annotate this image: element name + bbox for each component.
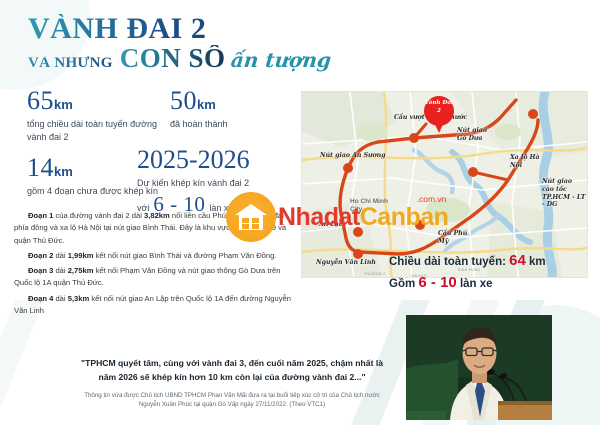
title-script: ấn tượng bbox=[229, 50, 331, 70]
summary-lanes-unit: làn xe bbox=[460, 278, 493, 290]
summary-lanes-label: Gồm bbox=[389, 278, 415, 290]
quote-block: "TPHCM quyết tâm, cùng với vành đai 3, đ… bbox=[74, 357, 390, 410]
paragraph-doan-3: Đoạn 3 dài 2,75km kết nối Phạm Văn Đồng … bbox=[14, 265, 299, 290]
segment-label: Đoạn 1 bbox=[28, 211, 53, 220]
summary-length-label: Chiều dài toàn tuyến: bbox=[389, 256, 506, 268]
summary-lanes-value: 6 - 10 bbox=[418, 274, 456, 291]
segment-length: 3,82km bbox=[144, 211, 170, 220]
timeline-range: 2025-2026 bbox=[137, 147, 250, 173]
stat-block-50km: 50km đã hoàn thành bbox=[170, 88, 228, 131]
quote-source: Thông tin vừa được Chủ tịch UBND TPHCM P… bbox=[74, 391, 390, 410]
segment-label: Đoạn 4 bbox=[28, 294, 53, 303]
watermark-brand-part-2: Canban bbox=[360, 203, 449, 231]
map-label-nut-giao-go-dua: Nút giao Gò Dưa bbox=[457, 127, 497, 143]
title-line-1: VÀNH ĐAI 2 bbox=[28, 14, 331, 44]
page-title: VÀNH ĐAI 2 VÀ NHỮNG CON SỐ ấn tượng bbox=[28, 14, 331, 72]
segment-length: 1,99km bbox=[68, 251, 94, 260]
summary-length-value: 64 bbox=[509, 252, 526, 269]
speaker-photo bbox=[406, 315, 552, 420]
watermark-brand-part-1: Nhadat bbox=[278, 203, 360, 231]
quote-text: "TPHCM quyết tâm, cùng với vành đai 3, đ… bbox=[74, 357, 390, 385]
paragraph-doan-4: Đoạn 4 dài 5,3km kết nối nút giao An Lập… bbox=[14, 293, 299, 318]
map-label-nut-giao-an-suong: Nút giao An Sương bbox=[320, 152, 386, 160]
stat-description: tổng chiều dài toàn tuyến đường vành đai… bbox=[27, 118, 177, 144]
stat-unit: km bbox=[54, 97, 73, 112]
infographic-canvas: VÀNH ĐAI 2 VÀ NHỮNG CON SỐ ấn tượng 65km… bbox=[0, 0, 600, 425]
map-pin-vanh-dai-2[interactable]: Vành Đai 2 bbox=[424, 96, 454, 134]
watermark-text: NhadatCanban .com.vn bbox=[278, 205, 448, 230]
map-label-nut-giao-cao-toc: Nút giao cao tốc TP.HCM - LT - DG bbox=[542, 178, 586, 209]
watermark-brand: NhadatCanban bbox=[278, 205, 448, 230]
route-summary: Chiều dài toàn tuyến: 64 km Gồm 6 - 10 l… bbox=[389, 250, 546, 294]
summary-length-unit: km bbox=[529, 256, 546, 268]
watermark: NhadatCanban .com.vn bbox=[226, 192, 448, 242]
stat-description: đã hoàn thành bbox=[170, 118, 228, 131]
stat-value: 50km bbox=[170, 88, 228, 114]
segment-label: Đoạn 2 bbox=[28, 251, 53, 260]
map-pin-label: Vành Đai 2 bbox=[424, 100, 454, 115]
map-label-nguyen-van-linh: Nguyễn Văn Linh bbox=[316, 259, 376, 267]
stat-value: 65km bbox=[27, 88, 177, 114]
segment-length: 2,75km bbox=[68, 266, 94, 275]
summary-lanes-line: Gồm 6 - 10 làn xe bbox=[389, 272, 546, 294]
speaker-photo-illustration bbox=[406, 315, 552, 420]
map-label-xa-lo-ha-noi: Xa lộ Hà Nội bbox=[510, 154, 540, 170]
title-emphasis: CON SỐ bbox=[120, 45, 226, 72]
stat-unit: km bbox=[197, 97, 216, 112]
paragraph-doan-2: Đoạn 2 dài 1,99km kết nối nút giao Bình … bbox=[14, 250, 299, 262]
map-district-1: PHƯỜNG 4 bbox=[364, 272, 385, 276]
segment-length: 5,3km bbox=[68, 294, 90, 303]
title-prefix: VÀ NHỮNG bbox=[28, 56, 113, 71]
watermark-domain: .com.vn bbox=[417, 194, 447, 204]
segment-label: Đoạn 3 bbox=[28, 266, 53, 275]
stat-block-65km: 65km tổng chiều dài toàn tuyến đường vàn… bbox=[27, 88, 177, 144]
summary-length-line: Chiều dài toàn tuyến: 64 km bbox=[389, 250, 546, 272]
title-line-2: VÀ NHỮNG CON SỐ ấn tượng bbox=[28, 45, 331, 72]
house-icon bbox=[226, 192, 276, 242]
timeline-description: Dự kiến khép kín vành đai 2 bbox=[137, 177, 250, 190]
stat-unit: km bbox=[54, 164, 73, 179]
